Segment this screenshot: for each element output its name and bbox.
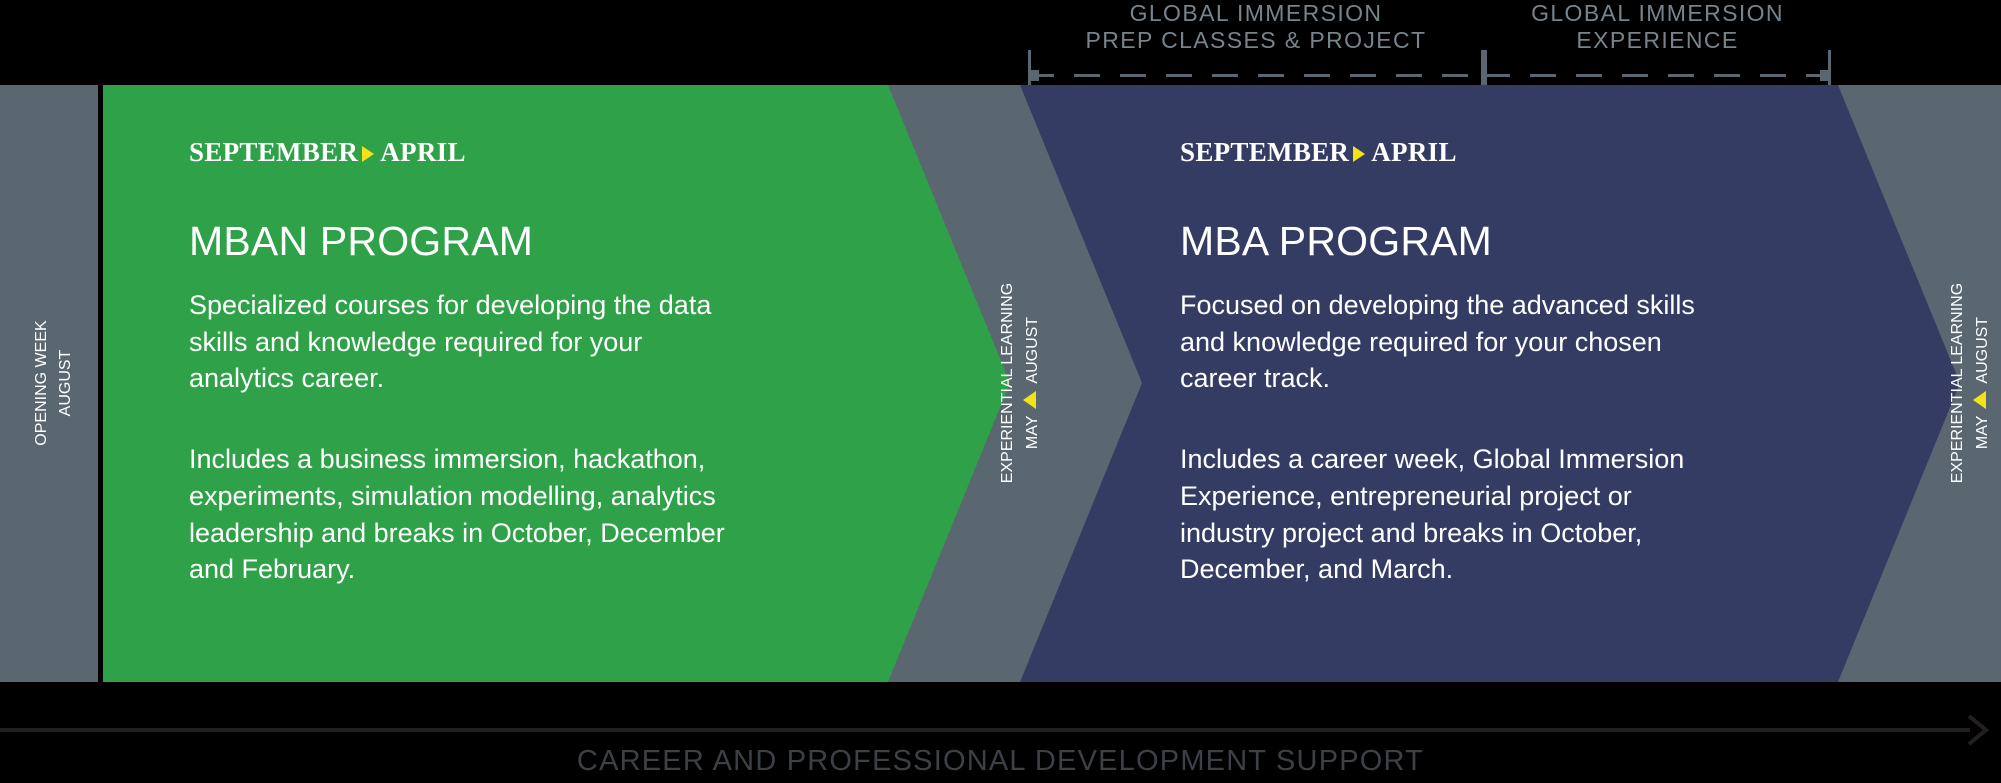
support-timeline-rule [0,728,1970,732]
bracket-dashed-line [1484,74,1831,77]
mban-panel: SEPTEMBERAPRIL MBAN PROGRAM Specialized … [189,137,799,588]
mba-panel: SEPTEMBERAPRIL MBA PROGRAM Focused on de… [1180,137,1790,588]
mba-eyebrow-from: SEPTEMBER [1180,137,1349,167]
mban-eyebrow-to: APRIL [380,137,466,167]
bracket-label-experience: GLOBAL IMMERSION EXPERIENCE [1484,0,1831,54]
bracket-label-prep-classes: GLOBAL IMMERSION PREP CLASSES & PROJECT [1028,0,1484,54]
mban-eyebrow-from: SEPTEMBER [189,137,358,167]
arrow-right-icon [1353,146,1365,162]
mba-paragraph-1: Focused on developing the advanced skill… [1180,287,1720,397]
experiential-learning-label-2: EXPERIENTIAL LEARNING MAYAUGUST [1780,353,2001,413]
arrow-right-icon [362,146,374,162]
mban-paragraph-1: Specialized courses for developing the d… [189,287,749,397]
mban-paragraph-2: Includes a business immersion, hackathon… [189,441,769,588]
mba-paragraph-2: Includes a career week, Global Immersion… [1180,441,1710,588]
bracket-label-prep-line1: GLOBAL IMMERSION [1130,0,1383,26]
mba-title: MBA PROGRAM [1180,218,1790,265]
opening-week-month: AUGUST [57,350,75,417]
bracket-prep-classes [1028,50,1484,86]
experiential-title: EXPERIENTIAL LEARNING [999,283,1017,483]
mban-title: MBAN PROGRAM [189,218,799,265]
timeline-infographic: GLOBAL IMMERSION PREP CLASSES & PROJECT … [0,0,2001,783]
career-development-support-label: CAREER AND PROFESSIONAL DEVELOPMENT SUPP… [0,745,2001,778]
arrow-up-icon [1023,391,1036,409]
experiential-months: MAYAUGUST [1973,317,1992,449]
bracket-label-experience-line1: GLOBAL IMMERSION [1531,0,1784,26]
bracket-dashed-line [1028,74,1484,77]
bracket-tick-left [1484,50,1487,86]
opening-week-title: OPENING WEEK [33,320,51,445]
experiential-learning-label-1: EXPERIENTIAL LEARNING MAYAUGUST [830,353,1210,413]
experiential-months: MAYAUGUST [1023,317,1042,449]
bracket-experience [1484,50,1831,86]
bracket-tick-right [1828,50,1831,86]
mba-eyebrow-to: APRIL [1371,137,1457,167]
mban-eyebrow: SEPTEMBERAPRIL [189,137,799,168]
opening-week-label: OPENING WEEK AUGUST [0,353,204,413]
program-band: OPENING WEEK AUGUST SEPTEMBERAPRIL MBAN … [0,85,2001,682]
mba-eyebrow: SEPTEMBERAPRIL [1180,137,1790,168]
arrow-up-icon [1973,391,1986,409]
arrow-right-icon [1955,713,1989,747]
experiential-title: EXPERIENTIAL LEARNING [1949,283,1967,483]
